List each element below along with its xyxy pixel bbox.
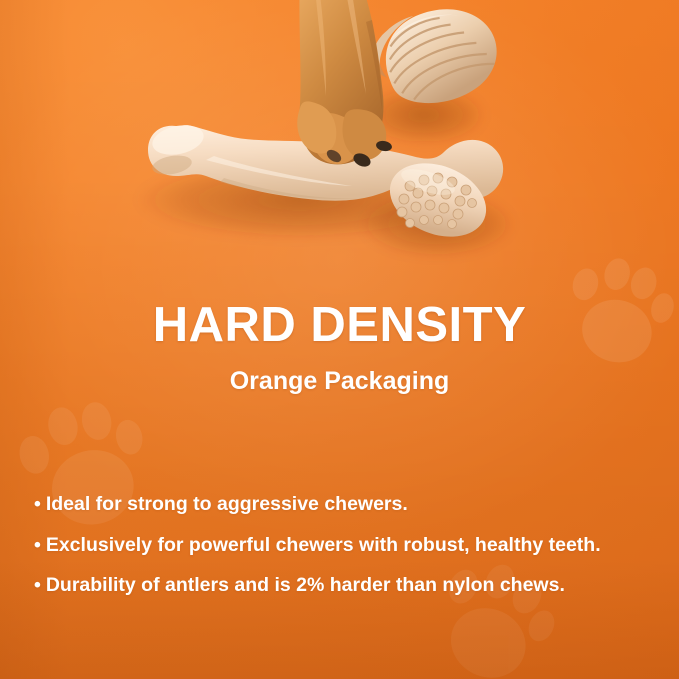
page-subtitle: Orange Packaging: [0, 367, 679, 396]
list-item-text: Ideal for strong to aggressive chewers.: [46, 493, 408, 515]
feature-list: •Ideal for strong to aggressive chewers.…: [34, 495, 655, 617]
chew-toys-group: [0, 0, 679, 300]
bullet-marker-icon: •: [34, 493, 41, 515]
bullet-marker-icon: •: [34, 534, 41, 556]
list-item: •Durability of antlers and is 2% harder …: [34, 576, 655, 596]
list-item-text: Exclusively for powerful chewers with ro…: [46, 534, 601, 556]
product-image: HARD DENSITY Orange Packaging •Ideal for…: [0, 0, 679, 679]
dog-paw: [297, 0, 393, 169]
headline-block: HARD DENSITY Orange Packaging: [0, 300, 679, 396]
list-item-text: Durability of antlers and is 2% harder t…: [46, 574, 565, 596]
list-item: •Ideal for strong to aggressive chewers.: [34, 495, 655, 515]
bullet-marker-icon: •: [34, 574, 41, 596]
list-item: •Exclusively for powerful chewers with r…: [34, 536, 655, 556]
page-title: HARD DENSITY: [0, 300, 679, 351]
